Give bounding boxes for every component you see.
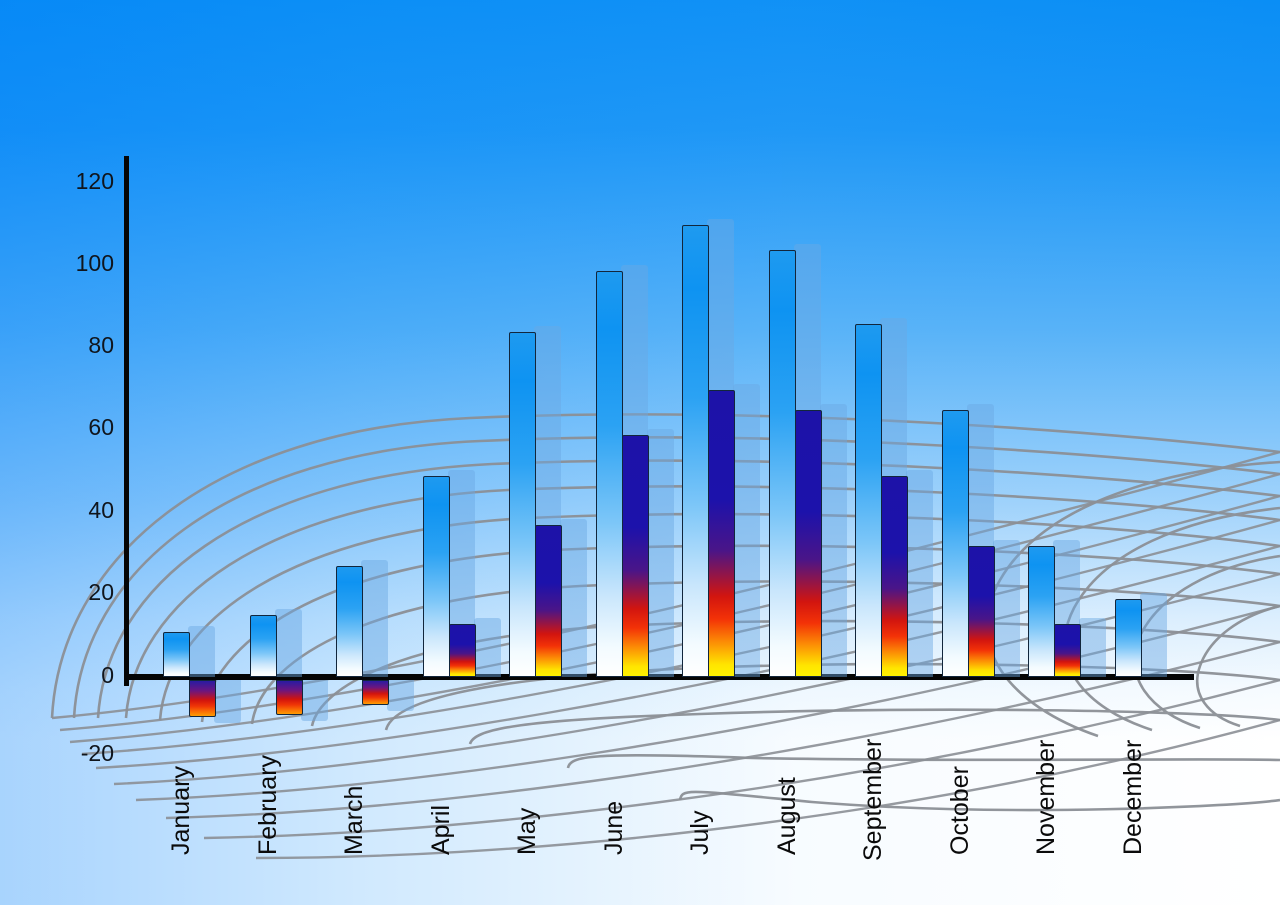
bar-shadow-november-series2 [1079, 618, 1106, 677]
bar-may-series2[interactable] [535, 525, 562, 677]
bar-march-series1[interactable] [336, 566, 363, 677]
bar-december-series1[interactable] [1115, 599, 1142, 677]
plot-area: 120 100 80 60 40 20 0 -20 JanuaryFebruar… [0, 0, 1280, 905]
y-tick-label-120: 120 [50, 170, 114, 193]
bar-shadow-august-series2 [820, 404, 847, 677]
bar-june-series2[interactable] [622, 435, 649, 677]
bar-shadow-december-series1 [1140, 593, 1167, 677]
bar-august-series2[interactable] [795, 410, 822, 677]
bar-shadow-january-series1 [188, 626, 215, 677]
bar-august-series1[interactable] [769, 250, 796, 677]
bar-shadow-march-series1 [361, 560, 388, 677]
x-label-june: June [600, 801, 629, 855]
bar-april-series1[interactable] [423, 476, 450, 677]
bar-february-series1[interactable] [250, 615, 277, 677]
bar-shadow-june-series2 [647, 429, 674, 677]
bar-shadow-april-series2 [474, 618, 501, 677]
bar-shadow-february-series2 [301, 680, 328, 721]
bar-shadow-february-series1 [275, 609, 302, 677]
bar-shadow-october-series2 [993, 540, 1020, 677]
x-label-september: September [859, 739, 888, 861]
bar-march-series2[interactable] [362, 680, 389, 705]
y-tick-label-neg20: -20 [50, 742, 114, 765]
y-tick-label-60: 60 [50, 416, 114, 439]
bar-september-series1[interactable] [855, 324, 882, 677]
y-tick-label-20: 20 [50, 581, 114, 604]
y-tick-label-40: 40 [50, 499, 114, 522]
x-label-february: February [254, 755, 283, 855]
bar-november-series1[interactable] [1028, 546, 1055, 677]
bar-january-series2[interactable] [189, 680, 216, 717]
y-axis-line [124, 156, 129, 686]
bar-shadow-july-series2 [733, 384, 760, 677]
x-label-march: March [340, 786, 369, 855]
bar-october-series2[interactable] [968, 546, 995, 677]
y-tick-label-80: 80 [50, 334, 114, 357]
x-label-october: October [946, 766, 975, 855]
x-label-april: April [427, 805, 456, 855]
x-label-july: July [686, 811, 715, 855]
bar-february-series2[interactable] [276, 680, 303, 715]
y-tick-label-0: 0 [50, 664, 114, 687]
x-label-december: December [1119, 740, 1148, 855]
bar-july-series1[interactable] [682, 225, 709, 677]
bar-april-series2[interactable] [449, 624, 476, 677]
y-tick-label-100: 100 [50, 252, 114, 275]
chart-canvas: 120 100 80 60 40 20 0 -20 JanuaryFebruar… [0, 0, 1280, 905]
bar-june-series1[interactable] [596, 271, 623, 677]
bar-october-series1[interactable] [942, 410, 969, 677]
bar-shadow-september-series2 [906, 470, 933, 677]
bar-shadow-march-series2 [387, 680, 414, 711]
bar-november-series2[interactable] [1054, 624, 1081, 677]
x-label-november: November [1032, 740, 1061, 855]
x-label-august: August [773, 777, 802, 855]
x-label-may: May [513, 808, 542, 855]
bar-shadow-may-series2 [560, 519, 587, 677]
bar-january-series1[interactable] [163, 632, 190, 677]
bar-shadow-january-series2 [214, 680, 241, 723]
bar-september-series2[interactable] [881, 476, 908, 677]
bar-july-series2[interactable] [708, 390, 735, 677]
x-label-january: January [167, 766, 196, 855]
bar-may-series1[interactable] [509, 332, 536, 677]
